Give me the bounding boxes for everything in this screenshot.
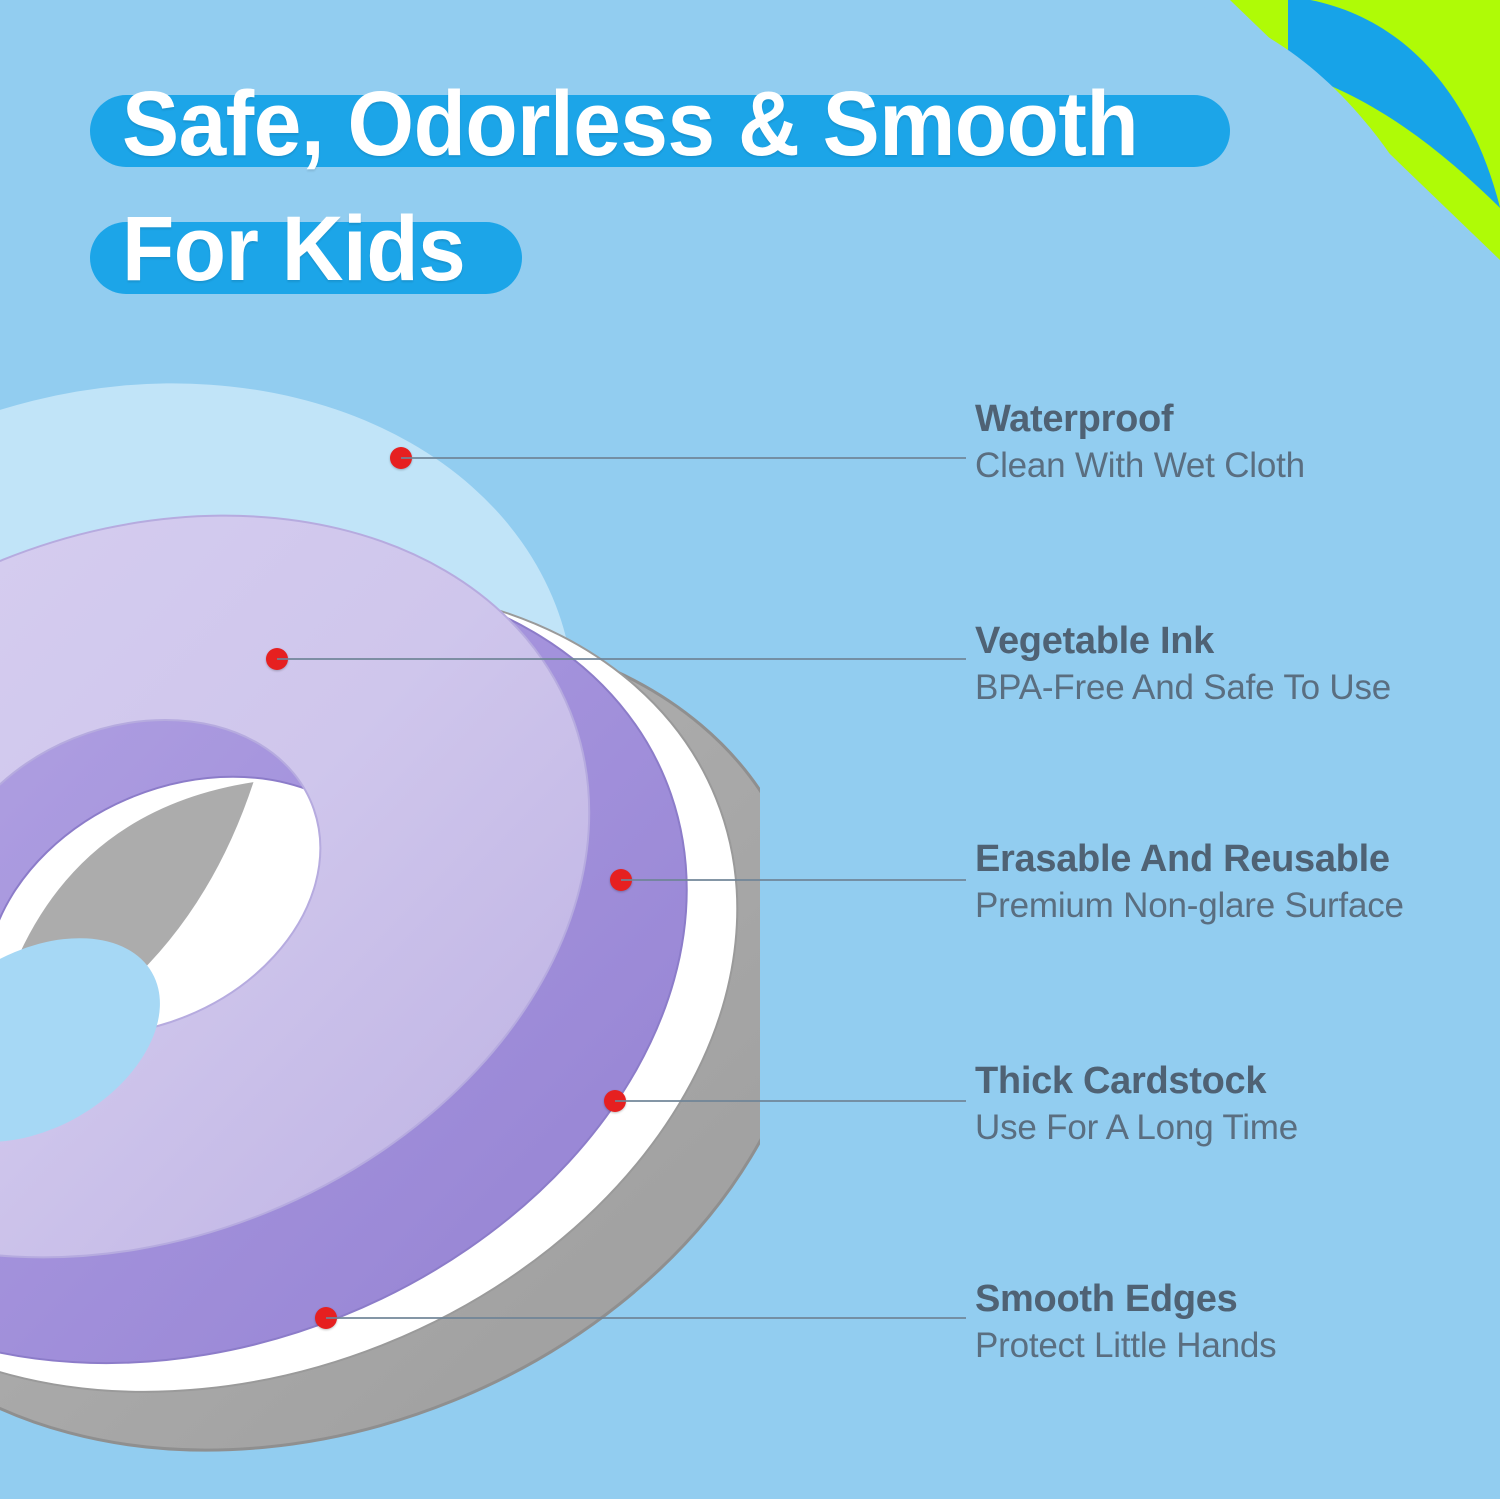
- callout-line-smooth-edges: [326, 1317, 966, 1319]
- headline-line-1: Safe, Odorless & Smooth: [122, 78, 1138, 170]
- feature-erasable-reusable: Erasable And Reusable Premium Non-glare …: [975, 838, 1475, 927]
- feature-title: Thick Cardstock: [975, 1060, 1475, 1103]
- lavender-mat: [0, 384, 702, 1389]
- white-mat: [0, 444, 760, 1499]
- feature-waterproof: Waterproof Clean With Wet Cloth: [975, 398, 1475, 487]
- halo-ellipse: [0, 330, 653, 1211]
- feature-vegetable-ink: Vegetable Ink BPA-Free And Safe To Use: [975, 620, 1475, 709]
- gray-mat: [0, 483, 760, 1499]
- center-hole: [0, 896, 196, 1183]
- product-illustration: [0, 330, 760, 1499]
- green-corner-shape: [1200, 0, 1500, 260]
- blue-corner-accent: [1288, 0, 1500, 208]
- hole-inner-shadow: [0, 773, 313, 1039]
- feature-subtitle: Premium Non-glare Surface: [975, 885, 1475, 927]
- feature-title: Erasable And Reusable: [975, 838, 1475, 881]
- background-corner-curve: [1200, 0, 1450, 260]
- corner-decoration: [1200, 0, 1500, 260]
- feature-subtitle: Clean With Wet Cloth: [975, 445, 1475, 487]
- feature-title: Smooth Edges: [975, 1278, 1475, 1321]
- callout-line-thick-cardstock: [615, 1100, 966, 1102]
- feature-thick-cardstock: Thick Cardstock Use For A Long Time: [975, 1060, 1475, 1149]
- callout-line-vegetable-ink: [277, 658, 966, 660]
- feature-subtitle: Protect Little Hands: [975, 1325, 1475, 1367]
- callout-line-erasable-reusable: [621, 879, 966, 881]
- feature-smooth-edges: Smooth Edges Protect Little Hands: [975, 1278, 1475, 1367]
- callout-line-waterproof: [401, 457, 966, 459]
- feature-subtitle: Use For A Long Time: [975, 1107, 1475, 1149]
- headline-line-2: For Kids: [122, 203, 465, 295]
- feature-title: Waterproof: [975, 398, 1475, 441]
- feature-title: Vegetable Ink: [975, 620, 1475, 663]
- infographic-canvas: Safe, Odorless & Smooth For Kids: [0, 0, 1500, 1499]
- purple-mat: [0, 433, 760, 1499]
- feature-subtitle: BPA-Free And Safe To Use: [975, 667, 1475, 709]
